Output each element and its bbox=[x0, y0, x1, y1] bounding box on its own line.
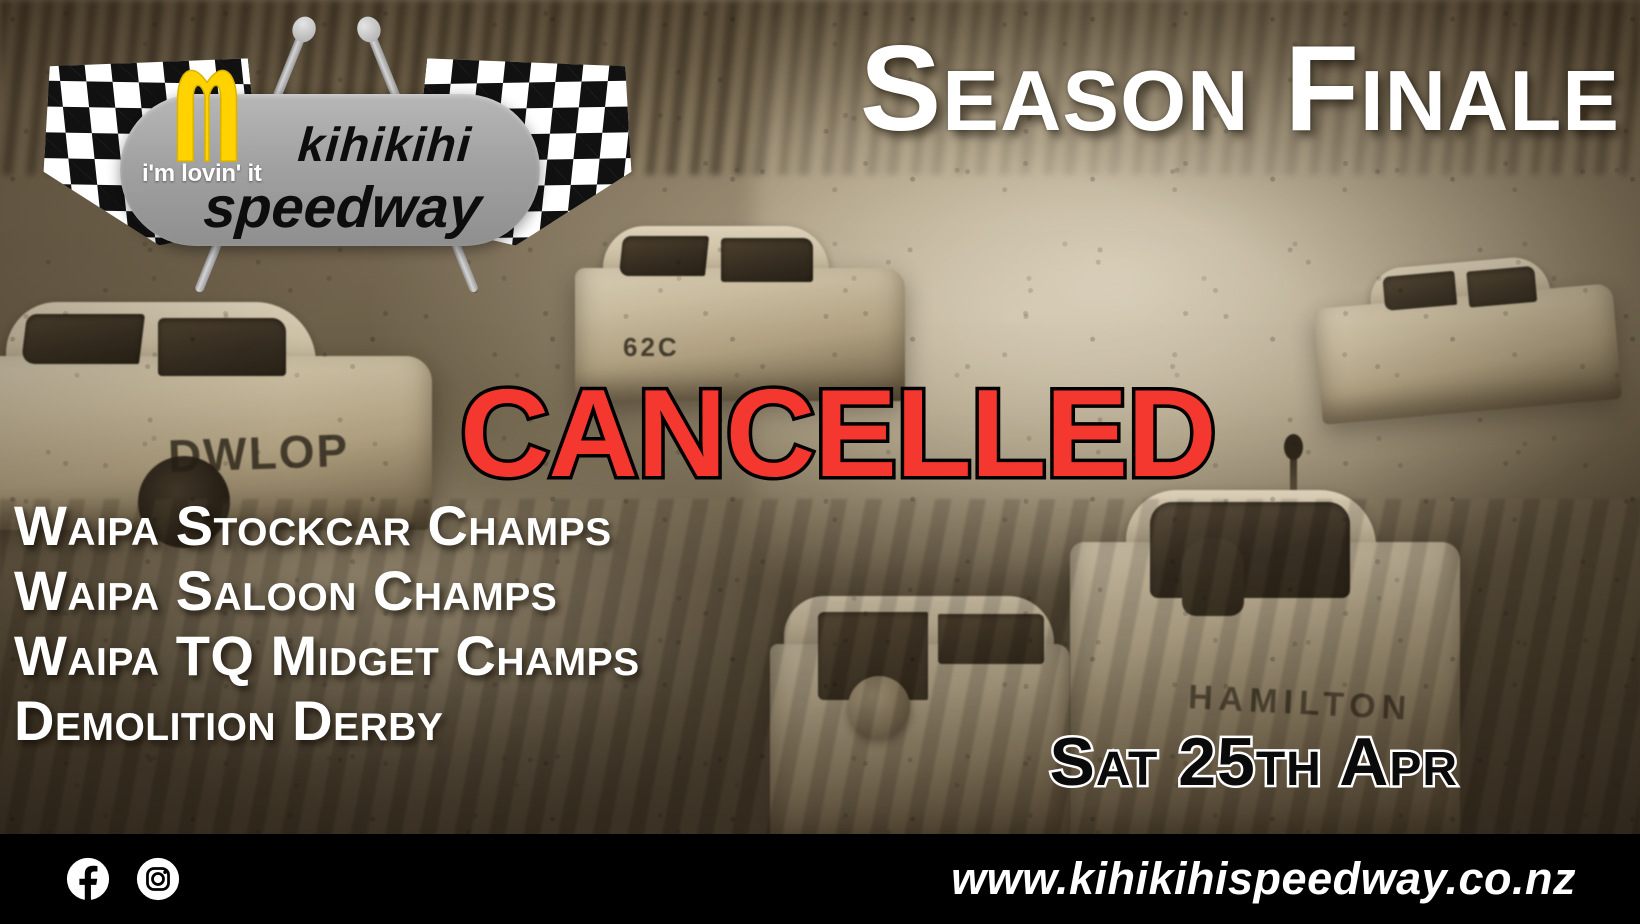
speedway-logo[interactable]: i'm lovin' it kihikihi speedway bbox=[18, 6, 618, 306]
facebook-icon[interactable] bbox=[66, 857, 110, 901]
list-item: Waipa TQ Midget Champs bbox=[14, 624, 754, 689]
footer-bar: www.kihikihispeedway.co.nz bbox=[0, 834, 1640, 924]
event-date: Sat 25th Apr bbox=[1050, 728, 1458, 796]
list-item: Waipa Saloon Champs bbox=[14, 559, 754, 624]
status-badge: CANCELLED bbox=[460, 372, 1140, 496]
website-url[interactable]: www.kihikihispeedway.co.nz bbox=[951, 853, 1600, 905]
event-poster: DWLOP 62C bbox=[0, 0, 1640, 924]
venue-name-line2: speedway bbox=[202, 174, 484, 241]
list-item: Demolition Derby bbox=[14, 689, 754, 754]
logo-plate: i'm lovin' it kihikihi speedway bbox=[120, 94, 540, 246]
social-links bbox=[66, 857, 180, 901]
venue-name-line1: kihikihi bbox=[296, 118, 473, 173]
page-title: Season Finale bbox=[620, 26, 1620, 150]
list-item: Waipa Stockcar Champs bbox=[14, 494, 754, 559]
mcdonalds-arches-icon bbox=[148, 52, 266, 164]
instagram-icon[interactable] bbox=[136, 857, 180, 901]
event-list: Waipa Stockcar Champs Waipa Saloon Champ… bbox=[14, 494, 754, 754]
